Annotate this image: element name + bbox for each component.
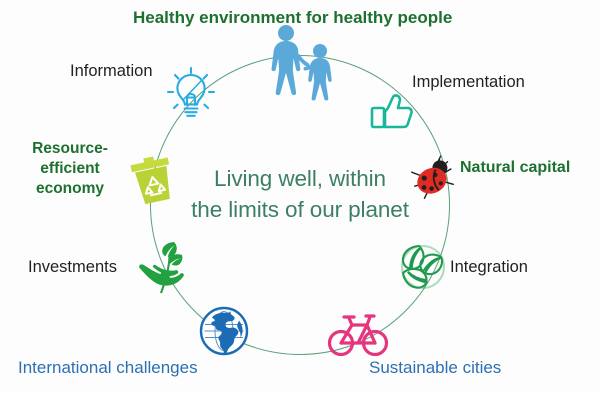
lightbulb-icon [163,64,219,124]
hand-sprout-icon [138,240,198,294]
people-icon [265,24,339,100]
thumbs-up-icon [369,86,417,134]
label-sustainable-cities: Sustainable cities [369,358,501,378]
center-slogan: Living well, within the limits of our pl… [170,163,430,225]
center-slogan-line-1: Living well, within [214,166,386,191]
diagram-canvas: Living well, within the limits of our pl… [0,0,600,401]
label-resource-line-1: Resource-efficient [32,140,108,177]
label-integration: Integration [450,258,528,277]
leaves-circle-icon [397,240,449,294]
label-implementation: Implementation [412,73,525,92]
label-healthy-environment: Healthy environment for healthy people [133,8,452,28]
bicycle-icon [327,311,389,357]
ladybug-icon [413,158,459,202]
globe-icon [198,305,250,357]
label-resource-efficient-economy: Resource-efficient economy [4,139,136,199]
label-international-challenges: International challenges [18,358,198,378]
center-slogan-line-2: the limits of our planet [170,194,430,225]
label-resource-line-2: economy [36,180,104,197]
label-investments: Investments [28,258,117,277]
bottom-divider [0,393,600,401]
label-natural-capital: Natural capital [460,159,570,177]
label-information: Information [70,62,153,81]
